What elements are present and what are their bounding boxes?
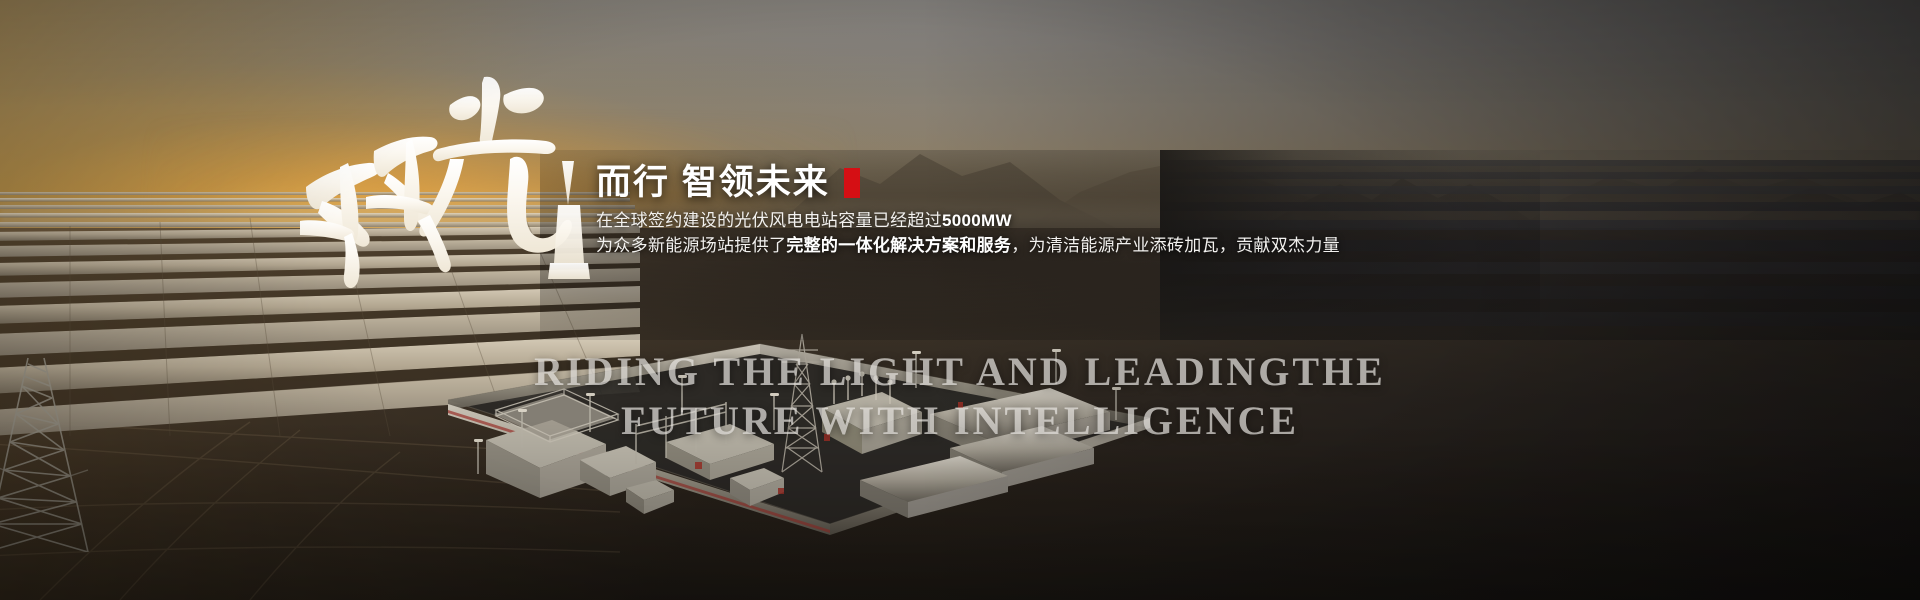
substation-compound [430,292,1170,532]
headline-text: 而行 智领未来 [596,165,830,200]
headline: 而行 智领未来 [596,165,1396,200]
banner-copy: 而行 智领未来 在全球签约建设的光伏风电电站容量已经超过5000MW 为众多新能… [596,165,1396,258]
transmission-tower-left [0,352,114,557]
subtitle-line-1: 在全球签约建设的光伏风电电站容量已经超过5000MW [596,208,1396,233]
headline-accent-block [844,168,860,198]
subtitle-line-2-prefix: 为众多新能源场站提供了 [596,236,786,255]
subtitle-line-1-strong: 5000MW [942,211,1012,230]
subtitle-line-1-prefix: 在全球签约建设的光伏风电电站容量已经超过 [596,211,942,230]
subtitle-line-2-suffix: ，为清洁能源产业添砖加瓦，贡献双杰力量 [1011,236,1340,255]
subtitle-line-2-strong: 完整的一体化解决方案和服务 [786,236,1011,255]
hero-banner: 而行 智领未来 在全球签约建设的光伏风电电站容量已经超过5000MW 为众多新能… [0,0,1920,600]
subtitle-line-2: 为众多新能源场站提供了完整的一体化解决方案和服务，为清洁能源产业添砖加瓦，贡献双… [596,233,1396,258]
